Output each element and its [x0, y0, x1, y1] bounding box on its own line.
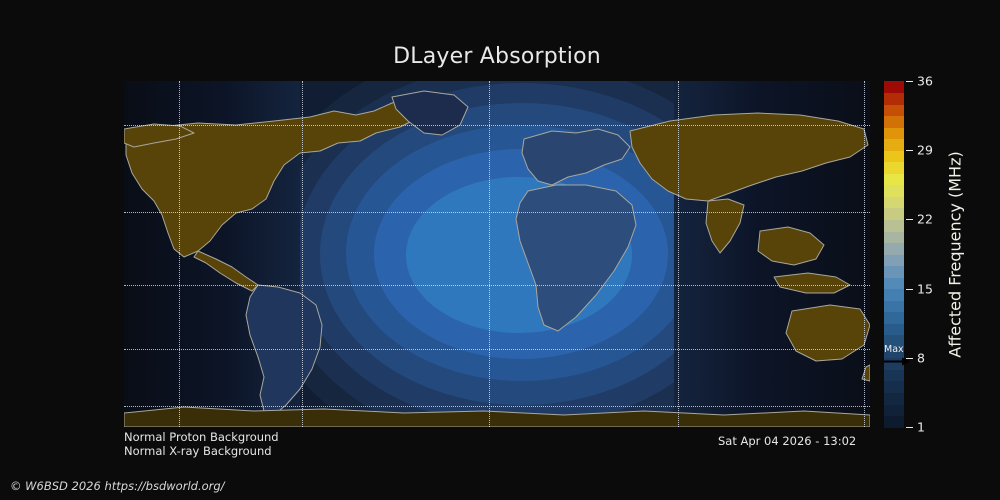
proton-background-status: Normal Proton Background [124, 430, 279, 444]
colorbar-band [884, 104, 904, 116]
colorbar-band [884, 312, 904, 324]
colorbar-band [884, 173, 904, 185]
gridline-lat-0 [124, 285, 870, 286]
colorbar-band [884, 231, 904, 243]
colorbar-band [884, 289, 904, 301]
colorbar-band [884, 208, 904, 220]
colorbar-band [884, 162, 904, 174]
landmass-greenland [392, 91, 468, 135]
map-clip [124, 81, 870, 427]
landmass-north-america [126, 99, 424, 257]
gridline-lat-30s [124, 349, 870, 350]
colorbar-band [884, 392, 904, 404]
colorbar-band [884, 116, 904, 128]
colorbar-tick-label: 36 [917, 74, 933, 89]
colorbar-tick-label: 8 [917, 350, 925, 365]
colorbar-band [884, 300, 904, 312]
colorbar-tick-label: 1 [917, 420, 925, 435]
gridline-lat-60n [124, 125, 870, 126]
colorbar-axis-label: Affected Frequency (MHz) [944, 81, 966, 427]
colorbar-band [884, 266, 904, 278]
colorbar-tick [906, 289, 913, 290]
colorbar-tick-label: 15 [917, 281, 933, 296]
colorbar: 1815222936 [884, 81, 904, 427]
colorbar-band [884, 242, 904, 254]
landmass-australia [786, 305, 870, 361]
colorbar-tick-label: 22 [917, 212, 933, 227]
colorbar-band [884, 404, 904, 416]
colorbar-band [884, 185, 904, 197]
gridline-lon-60e [678, 81, 679, 427]
gridline-lon-120e [864, 81, 865, 427]
page-title: DLayer Absorption [124, 44, 870, 69]
landmass-south-america [246, 285, 322, 415]
landmass-india [706, 199, 744, 253]
colorbar-band [884, 139, 904, 151]
colorbar-band [884, 369, 904, 381]
colorbar-tick-label: 29 [917, 143, 933, 158]
colorbar-tick [906, 150, 913, 151]
colorbar-max-arrow-icon [884, 357, 910, 366]
colorbar-band [884, 93, 904, 105]
landmass-africa [516, 185, 636, 331]
colorbar-band [884, 81, 904, 93]
colorbar-band [884, 254, 904, 266]
gridline-lon-0 [489, 81, 490, 427]
colorbar-band [884, 277, 904, 289]
gridline-lon-120w [179, 81, 180, 427]
timestamp-label: Sat Apr 04 2026 - 13:02 [718, 434, 856, 448]
gridline-lat-60s [124, 406, 870, 407]
gridline-lon-60w [302, 81, 303, 427]
landmass-antarctica [124, 407, 870, 427]
landmass-europe [522, 129, 630, 185]
coastline-layer [124, 81, 870, 427]
colorbar-max-label: Max [884, 345, 904, 355]
footer-credit: © W6BSD 2026 https://bsdworld.org/ [10, 479, 225, 493]
gridline-lat-30n [124, 212, 870, 213]
colorbar-axis-label-text: Affected Frequency (MHz) [946, 151, 965, 357]
colorbar-band [884, 415, 904, 427]
colorbar-band [884, 127, 904, 139]
colorbar-band [884, 196, 904, 208]
colorbar-band [884, 323, 904, 335]
world-map-panel [124, 81, 870, 427]
colorbar-tick [906, 219, 913, 220]
colorbar-tick [906, 427, 913, 428]
landmass-indonesia [774, 273, 850, 293]
landmass-southeast-asia [758, 227, 824, 265]
colorbar-band [884, 219, 904, 231]
landmass-asia [630, 113, 868, 201]
xray-background-status: Normal X-ray Background [124, 444, 272, 458]
colorbar-band [884, 381, 904, 393]
colorbar-band [884, 150, 904, 162]
dlayer-absorption-figure: DLayer Absorption [0, 0, 1000, 500]
colorbar-tick [906, 81, 913, 82]
